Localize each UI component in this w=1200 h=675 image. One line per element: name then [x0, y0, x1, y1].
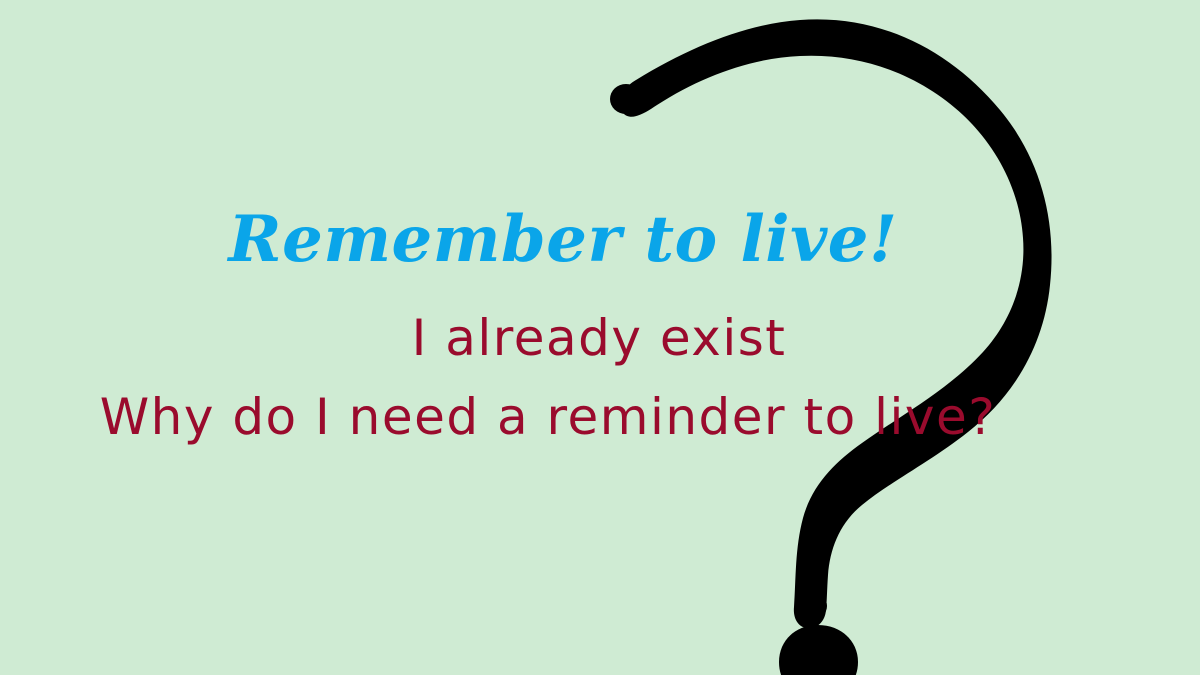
poster-response-line-2: Why do I need a reminder to live? — [0, 392, 1148, 442]
poster-headline: Remember to live! — [0, 208, 1163, 272]
poster-text-layer: Remember to live! I already exist Why do… — [0, 0, 1200, 675]
poster-response-line-1: I already exist — [0, 313, 1199, 363]
poster-canvas: Remember to live! I already exist Why do… — [0, 0, 1200, 675]
